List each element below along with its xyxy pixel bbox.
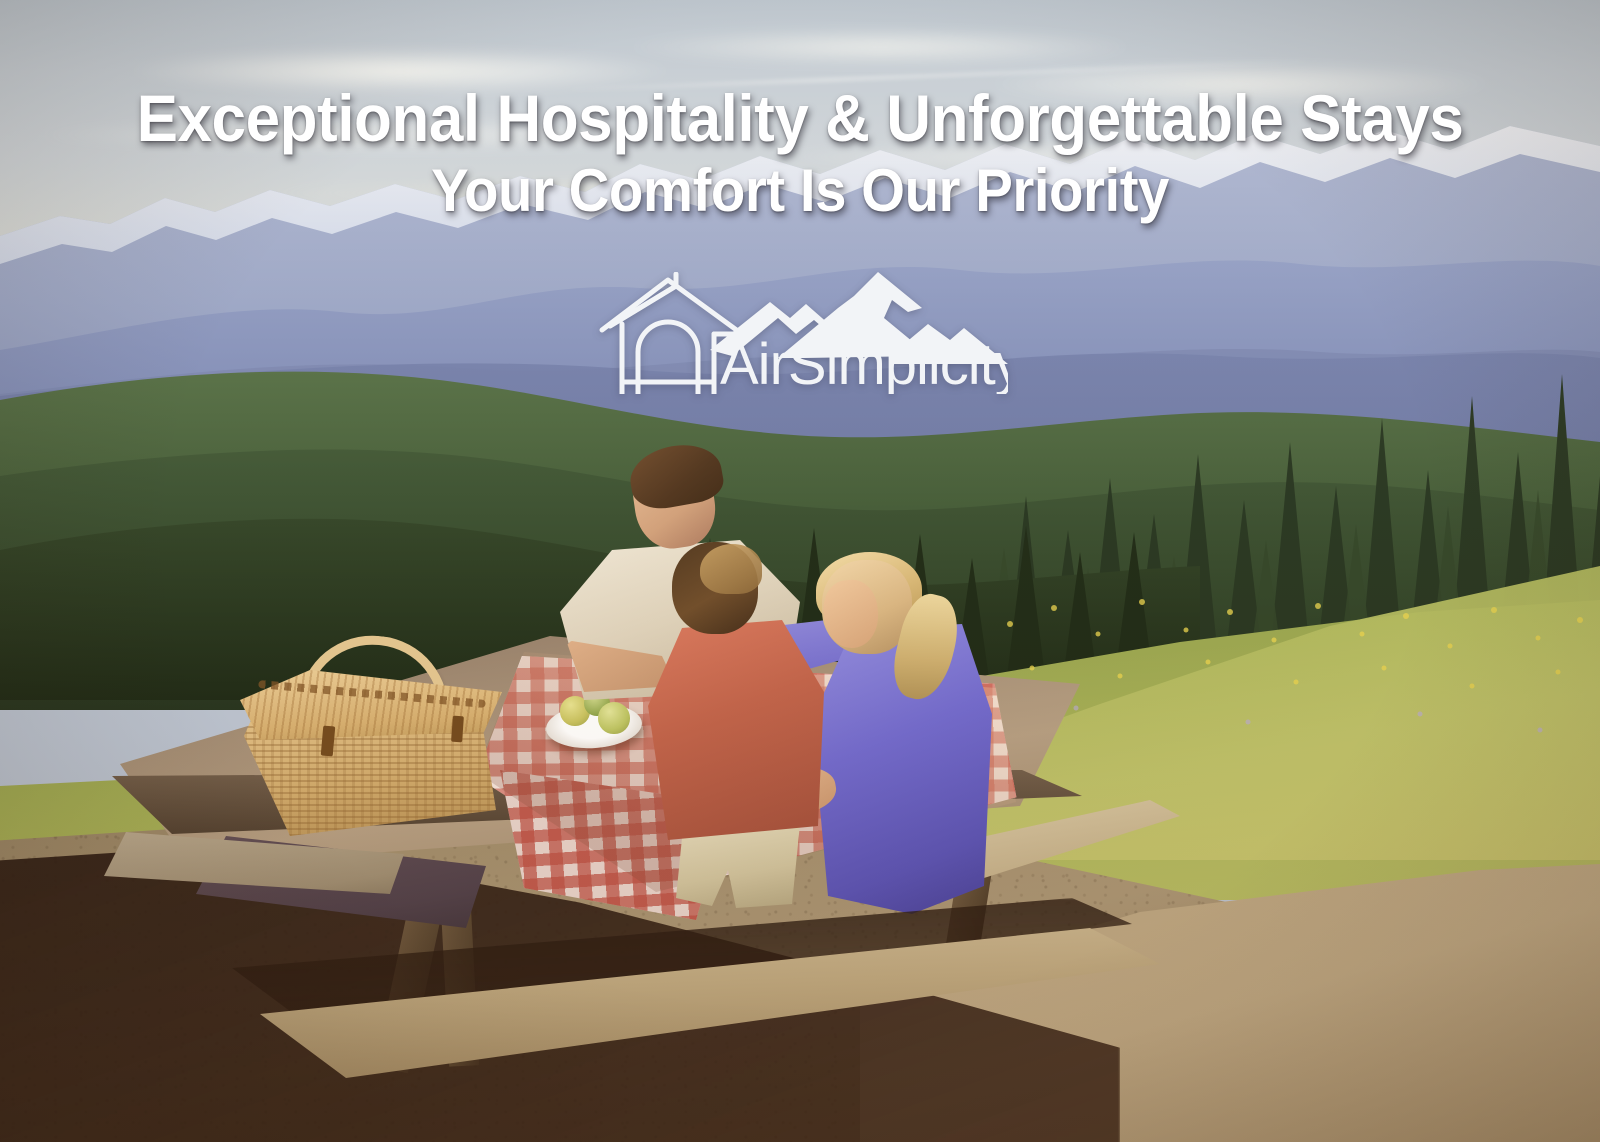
- headline-line-1: Exceptional Hospitality & Unforgettable …: [48, 80, 1552, 156]
- basket-strap: [451, 716, 464, 743]
- cloud: [620, 28, 1140, 66]
- apple: [598, 702, 630, 734]
- hero-headline: Exceptional Hospitality & Unforgettable …: [0, 80, 1600, 226]
- hero-banner: Exceptional Hospitality & Unforgettable …: [0, 0, 1600, 1142]
- house-mountain-logo-icon: AirSimplicity: [592, 272, 1008, 394]
- wildflowers: [980, 590, 1600, 770]
- headline-line-2: Your Comfort Is Our Priority: [48, 156, 1552, 226]
- boy-shirt: [648, 620, 824, 840]
- brand-logo[interactable]: AirSimplicity: [592, 272, 1008, 394]
- boy-hair: [700, 544, 762, 594]
- brand-wordmark: AirSimplicity: [720, 332, 1008, 394]
